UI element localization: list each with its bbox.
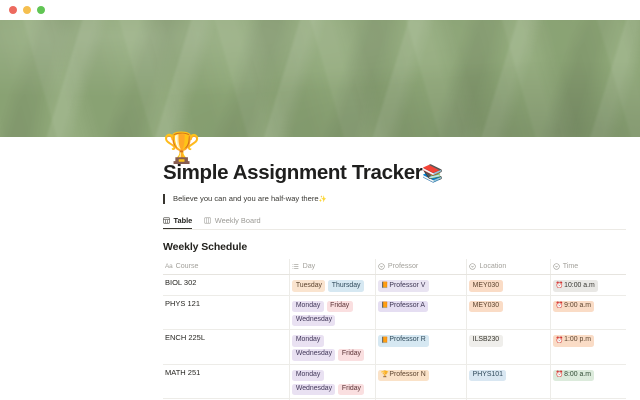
tag-label: ILSB230 (473, 337, 499, 344)
tag-label: MEY030 (473, 303, 499, 310)
time-tag-list: ⏰9:00 a.m (553, 299, 621, 312)
sparkles-icon: ✨ (319, 196, 327, 203)
table-row[interactable]: BIOL 302TuesdayThursday📙Professor VMEY03… (163, 275, 626, 295)
cell-time[interactable]: ⏰1:00 p.m (550, 330, 626, 364)
cell-location[interactable]: PHYS101 (467, 364, 550, 398)
tag-label: Professor V (389, 283, 425, 290)
page-title-text: Simple Assignment Tracker (163, 161, 422, 184)
time-tag-list: ⏰8:00 a.m (553, 368, 621, 381)
day-tag[interactable]: Friday (338, 384, 364, 395)
schedule-table: Aa Course Day (163, 259, 626, 400)
tag-emoji-icon: ⏰ (556, 303, 564, 309)
day-tag-list: MondayWednesdayFriday (292, 368, 369, 395)
column-header-day-label: Day (303, 262, 316, 270)
tag-label: Thursday (332, 283, 361, 290)
day-tag[interactable]: Wednesday (292, 349, 335, 360)
professor-tag[interactable]: 📙Professor V (378, 280, 429, 291)
day-tag-list: MondayWednesdayFriday (292, 333, 369, 360)
tag-label: MEY030 (473, 283, 499, 290)
quote-text: Believe you can and you are half-way the… (173, 194, 319, 203)
trophy-icon[interactable]: 🏆 (163, 134, 200, 164)
tag-label: Professor N (389, 372, 425, 379)
tag-label: Monday (296, 372, 321, 379)
tag-label: Professor R (389, 337, 425, 344)
tag-emoji-icon: 📙 (381, 338, 389, 344)
tag-emoji-icon: 📙 (381, 303, 389, 309)
column-header-professor-label: Professor (388, 262, 418, 270)
location-tag[interactable]: MEY030 (469, 280, 502, 291)
time-tag[interactable]: ⏰8:00 a.m (553, 370, 595, 381)
tag-label: 10:00 a.m (564, 283, 595, 290)
tag-emoji-icon: 📙 (381, 283, 389, 289)
select-icon (469, 263, 476, 270)
day-tag[interactable]: Wednesday (292, 315, 335, 326)
day-tag[interactable]: Thursday (328, 280, 364, 291)
minimize-window-button[interactable] (23, 6, 31, 14)
cell-professor[interactable]: 🏆Professor N (375, 364, 467, 398)
column-header-time[interactable]: Time (550, 259, 626, 275)
location-tag[interactable]: PHYS101 (469, 370, 506, 381)
column-header-course[interactable]: Aa Course (163, 259, 290, 275)
table-header-row: Aa Course Day (163, 259, 626, 275)
day-tag-list: MondayFridayWednesday (292, 299, 369, 326)
tag-label: Monday (296, 303, 321, 310)
location-tag-list: MEY030 (469, 278, 544, 291)
professor-tag[interactable]: 📙Professor A (378, 301, 429, 312)
cell-professor[interactable]: 📙Professor R (375, 330, 467, 364)
cell-professor[interactable]: 📙Professor A (375, 295, 467, 329)
time-tag[interactable]: ⏰10:00 a.m (553, 280, 599, 291)
tag-label: Friday (342, 386, 361, 393)
tag-label: Friday (342, 351, 361, 358)
cell-day[interactable]: MondayWednesdayFriday (290, 364, 375, 398)
table-row[interactable]: ENCH 225LMondayWednesdayFriday📙Professor… (163, 330, 626, 364)
tag-label: 1:00 p.m (564, 337, 591, 344)
day-tag[interactable]: Wednesday (292, 384, 335, 395)
cell-day[interactable]: TuesdayThursday (290, 275, 375, 295)
tag-emoji-icon: ⏰ (556, 283, 564, 289)
cell-location[interactable]: MEY030 (467, 295, 550, 329)
location-tag-list: MEY030 (469, 299, 544, 312)
time-tag-list: ⏰10:00 a.m (553, 278, 621, 291)
cell-time[interactable]: ⏰9:00 a.m (550, 295, 626, 329)
column-header-professor[interactable]: Professor (375, 259, 467, 275)
time-tag[interactable]: ⏰9:00 a.m (553, 301, 595, 312)
cell-location[interactable]: ILSB230 (467, 330, 550, 364)
professor-tag[interactable]: 📙Professor R (378, 335, 429, 346)
books-icon: 📚 (422, 164, 443, 183)
professor-tag-list: 📙Professor A (378, 299, 462, 312)
table-body: BIOL 302TuesdayThursday📙Professor VMEY03… (163, 275, 626, 400)
day-tag[interactable]: Monday (292, 301, 323, 312)
cell-course[interactable]: ENCH 225L (163, 330, 290, 364)
tag-label: 9:00 a.m (564, 303, 591, 310)
time-tag[interactable]: ⏰1:00 p.m (553, 335, 595, 346)
table-icon (163, 217, 170, 224)
cell-day[interactable]: MondayFridayWednesday (290, 295, 375, 329)
view-tabs: Table Weekly Board (163, 213, 626, 230)
board-icon (204, 217, 211, 224)
tag-emoji-icon: ⏰ (556, 372, 564, 378)
cell-time[interactable]: ⏰10:00 a.m (550, 275, 626, 295)
maximize-window-button[interactable] (37, 6, 45, 14)
tag-label: Wednesday (296, 317, 332, 324)
day-tag[interactable]: Tuesday (292, 280, 325, 291)
day-tag-list: TuesdayThursday (292, 278, 369, 291)
tag-label: Tuesday (296, 283, 322, 290)
day-tag[interactable]: Monday (292, 335, 323, 346)
cell-course[interactable]: BIOL 302 (163, 275, 290, 295)
select-icon (378, 263, 385, 270)
text-type-icon: Aa (165, 263, 172, 270)
column-header-day[interactable]: Day (290, 259, 375, 275)
page-cover[interactable] (0, 20, 640, 137)
column-header-course-label: Course (176, 262, 199, 270)
close-window-button[interactable] (9, 6, 17, 14)
location-tag-list: ILSB230 (469, 333, 544, 346)
multi-select-icon (292, 263, 299, 270)
cell-course[interactable]: PHYS 121 (163, 295, 290, 329)
cell-location[interactable]: MEY030 (467, 275, 550, 295)
cell-professor[interactable]: 📙Professor V (375, 275, 467, 295)
location-tag[interactable]: MEY030 (469, 301, 502, 312)
page-body: 🏆 Simple Assignment Tracker📚 Believe you… (0, 137, 640, 400)
tab-weekly-board-label: Weekly Board (215, 216, 261, 225)
tag-label: Friday (330, 303, 349, 310)
tag-emoji-icon: ⏰ (556, 338, 564, 344)
cell-day[interactable]: MondayWednesdayFriday (290, 330, 375, 364)
professor-tag[interactable]: 🏆Professor N (378, 370, 429, 381)
table-row[interactable]: MATH 251MondayWednesdayFriday🏆Professor … (163, 364, 626, 398)
window-titlebar (0, 0, 640, 20)
cover-sheen (0, 20, 640, 137)
quote-callout[interactable]: Believe you can and you are half-way the… (163, 194, 626, 205)
select-icon (553, 263, 560, 270)
column-header-location[interactable]: Location (467, 259, 550, 275)
tab-weekly-board[interactable]: Weekly Board (204, 216, 260, 230)
page-title[interactable]: Simple Assignment Tracker📚 (163, 161, 626, 185)
tag-label: PHYS101 (473, 372, 503, 379)
tag-emoji-icon: 🏆 (381, 372, 389, 378)
app-window: 🏆 Simple Assignment Tracker📚 Believe you… (0, 0, 640, 400)
tag-label: 8:00 a.m (564, 372, 591, 379)
day-tag[interactable]: Friday (327, 301, 353, 312)
professor-tag-list: 📙Professor R (378, 333, 462, 346)
cell-time[interactable]: ⏰8:00 a.m (550, 364, 626, 398)
cell-course[interactable]: MATH 251 (163, 364, 290, 398)
tag-label: Professor A (389, 303, 425, 310)
location-tag[interactable]: ILSB230 (469, 335, 502, 346)
tag-label: Monday (296, 337, 321, 344)
professor-tag-list: 📙Professor V (378, 278, 462, 291)
time-tag-list: ⏰1:00 p.m (553, 333, 621, 346)
tab-table[interactable]: Table (163, 216, 192, 230)
tag-label: Wednesday (296, 386, 332, 393)
table-row[interactable]: PHYS 121MondayFridayWednesday📙Professor … (163, 295, 626, 329)
professor-tag-list: 🏆Professor N (378, 368, 462, 381)
tag-label: Wednesday (296, 351, 332, 358)
location-tag-list: PHYS101 (469, 368, 544, 381)
column-header-time-label: Time (563, 262, 579, 270)
column-header-location-label: Location (479, 262, 506, 270)
tab-table-label: Table (174, 216, 193, 225)
day-tag[interactable]: Monday (292, 370, 323, 381)
table-heading[interactable]: Weekly Schedule (163, 241, 626, 253)
day-tag[interactable]: Friday (338, 349, 364, 360)
